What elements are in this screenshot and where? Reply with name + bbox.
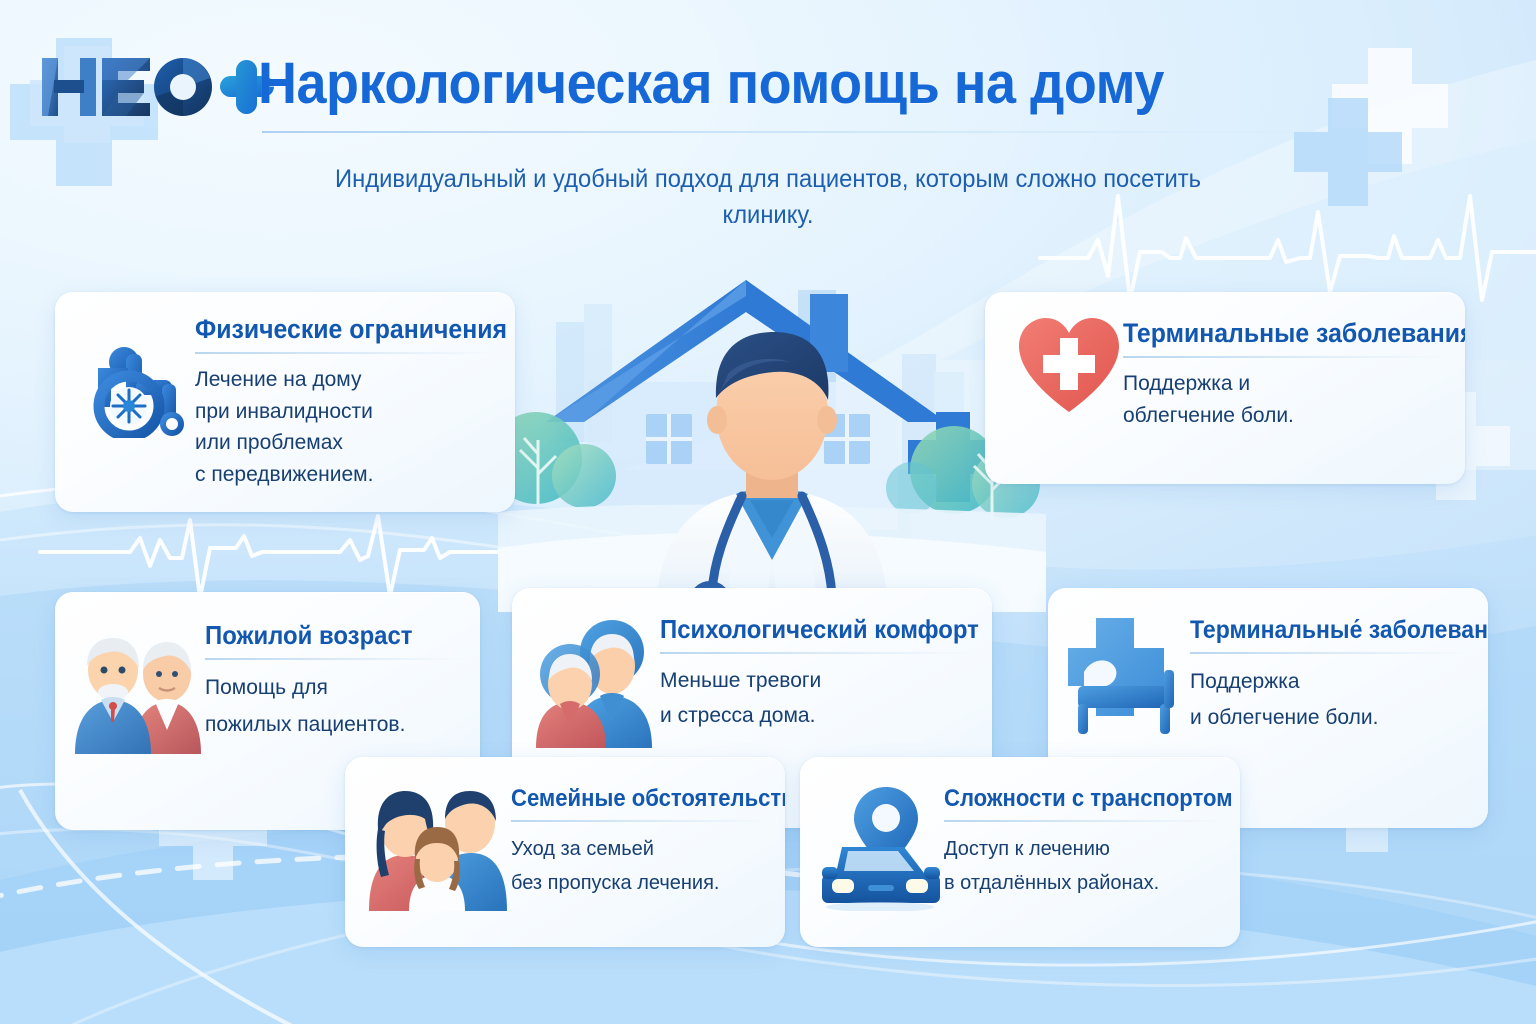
infographic-canvas: Наркологическая помощь на дому Индивидуа… [0, 0, 1536, 1024]
card-title: Терминальные́ заболевания [1190, 616, 1449, 645]
title-divider [262, 131, 1322, 133]
card-description: Уход за семьей без пропуска лечения. [511, 832, 771, 900]
card-physical-limitations[interactable]: Физические ограничения Лечение на дому п… [55, 292, 515, 512]
elderly-couple-icon [71, 612, 205, 754]
card-description: Меньше тревоги и стресса дома. [660, 664, 976, 733]
card-terminal-illness-heart[interactable]: Терминальные заболевания Поддержка и обл… [985, 292, 1465, 484]
card-divider [1123, 356, 1447, 358]
card-divider [195, 352, 497, 354]
wheelchair-icon [83, 314, 195, 438]
card-description: Доступ к лечению в отдалённых районах. [944, 832, 1226, 900]
card-title: Пожилой возраст [205, 620, 443, 651]
card-divider [205, 658, 464, 660]
card-description: Помощь для пожилых пациентов. [205, 670, 464, 744]
card-title: Семейные обстоятельства [511, 785, 750, 813]
family-icon [363, 779, 511, 911]
card-divider [660, 652, 976, 654]
page-title: Наркологическая помощь на дому [258, 50, 1164, 117]
card-divider [511, 820, 771, 822]
card-title: Сложности с транспортом [944, 785, 1203, 813]
card-description: Поддержка и облегчение боли. [1123, 368, 1447, 431]
hospital-bed-icon [1068, 608, 1190, 740]
brand-logo[interactable] [24, 38, 274, 143]
card-family-circumstances[interactable]: Семейные обстоятельства Уход за семьей б… [345, 757, 785, 947]
logo-mark [24, 38, 274, 143]
doctor-at-home-illustration [498, 262, 1046, 612]
car-with-location-pin-icon [818, 779, 944, 911]
card-description: Поддержка и облегчение боли. [1190, 664, 1472, 735]
card-divider [944, 820, 1226, 822]
card-title: Терминальные заболевания [1123, 318, 1421, 349]
heart-with-cross-icon [1015, 314, 1123, 416]
card-divider [1190, 652, 1472, 654]
page-subtitle: Индивидуальный и удобный подход для паци… [293, 162, 1243, 233]
two-people-icon [534, 608, 660, 748]
card-transport-difficulties[interactable]: Сложности с транспортом Доступ к лечению… [800, 757, 1240, 947]
card-description: Лечение на дому при инвалидности или про… [195, 364, 497, 490]
card-title: Физические ограничения [195, 314, 473, 345]
header: Наркологическая помощь на дому Индивидуа… [0, 0, 1536, 150]
card-title: Психологический комфорт [660, 614, 951, 645]
